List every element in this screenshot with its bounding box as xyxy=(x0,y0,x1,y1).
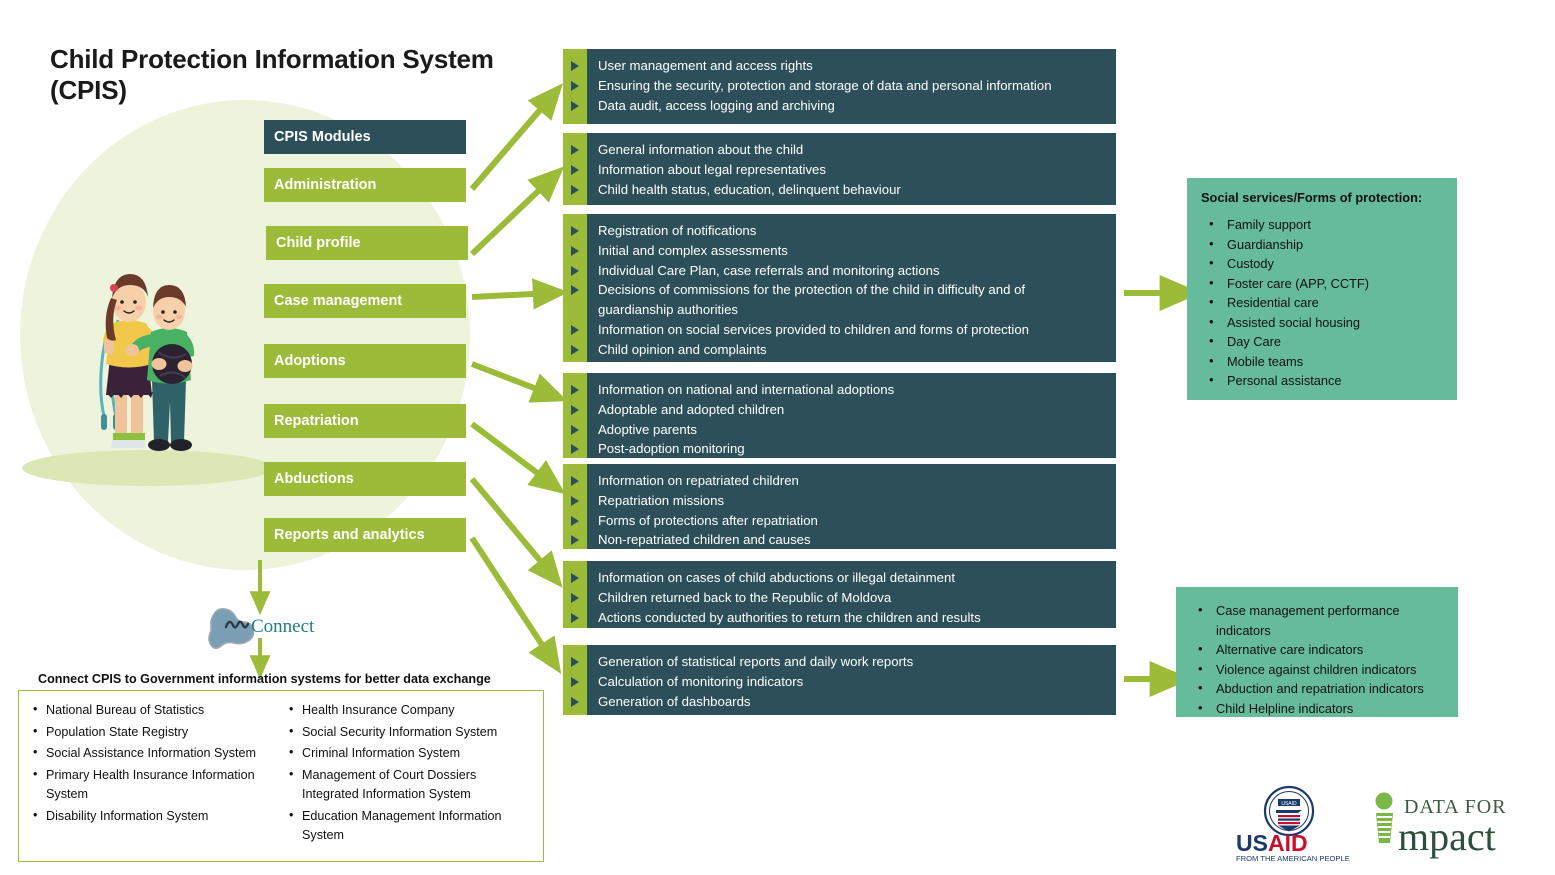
list-item: Mobile teams xyxy=(1201,352,1443,372)
bullet-arrow-icon xyxy=(571,657,579,667)
bullet-arrow-icon xyxy=(571,345,579,355)
data-for-impact-logo: DATA FOR mpact xyxy=(1368,790,1543,862)
list-item: Child opinion and complaints xyxy=(598,340,1104,360)
bullet-arrow-icon xyxy=(571,246,579,256)
bullet-arrow-icon xyxy=(571,535,579,545)
bullet-arrow-icon xyxy=(571,476,579,486)
list-item: Adoptable and adopted children xyxy=(598,400,1104,420)
panel-repatriation: Information on repatriated childrenRepat… xyxy=(563,464,1116,549)
bullet-arrow-icon xyxy=(571,496,579,506)
list-item: Post-adoption monitoring xyxy=(598,439,1104,459)
list-item: Violence against children indicators xyxy=(1190,660,1444,680)
bullet-arrow-icon xyxy=(571,385,579,395)
modules-header: CPIS Modules xyxy=(264,120,466,154)
list-item: Registration of notifications xyxy=(598,221,1104,241)
panel-administration: User management and access rightsEnsurin… xyxy=(563,49,1116,124)
panel-reports-and-analytics: Generation of statistical reports and da… xyxy=(563,645,1116,715)
panel-child-profile: General information about the childInfor… xyxy=(563,133,1116,205)
list-item: Information on repatriated children xyxy=(598,471,1104,491)
module-label: Repatriation xyxy=(274,413,359,429)
list-item: Foster care (APP, CCTF) xyxy=(1201,274,1443,294)
list-item: Alternative care indicators xyxy=(1190,640,1444,660)
modules-header-label: CPIS Modules xyxy=(274,129,371,145)
panel-items: Information on national and internationa… xyxy=(587,373,1116,458)
panel-items: Information on cases of child abductions… xyxy=(587,561,1116,628)
list-item: Family support xyxy=(1201,215,1443,235)
list-item: Residential care xyxy=(1201,293,1443,313)
list-item: Forms of protections after repatriation xyxy=(598,511,1104,531)
bullet-arrow-icon xyxy=(571,145,579,155)
list-item: Decisions of commissions for the protect… xyxy=(598,280,1104,320)
list-item: Primary Health Insurance Information Sys… xyxy=(29,766,277,805)
list-item: Initial and complex assessments xyxy=(598,241,1104,261)
list-item: Education Management Information System xyxy=(285,807,533,846)
bullet-arrow-icon xyxy=(571,285,579,295)
module-item-case-management[interactable]: Case management xyxy=(264,284,466,318)
page-title-line2: (CPIS) xyxy=(50,75,520,106)
page-title: Child Protection Information System (CPI… xyxy=(50,44,520,105)
list-item: Case management performance indicators xyxy=(1190,601,1444,640)
module-item-abductions[interactable]: Abductions xyxy=(264,462,466,496)
list-item: General information about the child xyxy=(598,140,1104,160)
module-item-repatriation[interactable]: Repatriation xyxy=(264,404,466,438)
bullet-arrow-icon xyxy=(571,593,579,603)
module-label: Administration xyxy=(274,177,376,193)
connect-left-list: National Bureau of StatisticsPopulation … xyxy=(29,701,277,826)
panel-stripe xyxy=(563,645,587,715)
bullet-arrow-icon xyxy=(571,444,579,454)
bullet-arrow-icon xyxy=(571,697,579,707)
panel-stripe xyxy=(563,561,587,628)
list-item: Child health status, education, delinque… xyxy=(598,180,1104,200)
list-item: Guardianship xyxy=(1201,235,1443,255)
panel-stripe xyxy=(563,373,587,458)
panel-stripe xyxy=(563,214,587,362)
panel-items: User management and access rightsEnsurin… xyxy=(587,49,1116,124)
panel-items: Information on repatriated childrenRepat… xyxy=(587,464,1116,549)
bullet-arrow-icon xyxy=(571,516,579,526)
bullet-arrow-icon xyxy=(571,405,579,415)
module-item-child-profile[interactable]: Child profile xyxy=(266,226,468,260)
usaid-logo: USAID USAID FROM THE AMERICAN PEOPLE xyxy=(1228,785,1350,865)
panel-items: General information about the childInfor… xyxy=(587,133,1116,205)
bullet-arrow-icon xyxy=(571,185,579,195)
list-item: Non-repatriated children and causes xyxy=(598,530,1104,550)
list-item: Assisted social housing xyxy=(1201,313,1443,333)
connect-systems-box: National Bureau of StatisticsPopulation … xyxy=(18,690,544,862)
list-item: Management of Court Dossiers Integrated … xyxy=(285,766,533,805)
list-item: Child Helpline indicators xyxy=(1190,699,1444,719)
list-item: Abduction and repatriation indicators xyxy=(1190,679,1444,699)
bullet-arrow-icon xyxy=(571,425,579,435)
bullet-arrow-icon xyxy=(571,613,579,623)
list-item: Personal assistance xyxy=(1201,371,1443,391)
panel-stripe xyxy=(563,464,587,549)
module-label: Child profile xyxy=(276,235,361,251)
dfi-bottom-text: mpact xyxy=(1398,814,1496,859)
bullet-arrow-icon xyxy=(571,101,579,111)
page-title-line1: Child Protection Information System xyxy=(50,44,520,75)
bullet-arrow-icon xyxy=(571,573,579,583)
mconnect-logo: Connect xyxy=(203,603,323,651)
list-item: Day Care xyxy=(1201,332,1443,352)
panel-abductions: Information on cases of child abductions… xyxy=(563,561,1116,628)
bullet-arrow-icon xyxy=(571,266,579,276)
list-item: Children returned back to the Republic o… xyxy=(598,588,1104,608)
list-item: Repatriation missions xyxy=(598,491,1104,511)
list-item: Population State Registry xyxy=(29,723,277,743)
module-label: Case management xyxy=(274,293,402,309)
list-item: Individual Care Plan, case referrals and… xyxy=(598,261,1104,281)
panel-stripe xyxy=(563,133,587,205)
connect-column-right: Health Insurance CompanySocial Security … xyxy=(281,701,537,855)
list-item: User management and access rights xyxy=(598,56,1104,76)
module-label: Adoptions xyxy=(274,353,346,369)
bullet-arrow-icon xyxy=(571,81,579,91)
indicators-list: Case management performance indicatorsAl… xyxy=(1190,601,1444,718)
list-item: Criminal Information System xyxy=(285,744,533,764)
indicators-box: Case management performance indicatorsAl… xyxy=(1176,587,1458,717)
panel-adoptions: Information on national and internationa… xyxy=(563,373,1116,458)
panel-stripe xyxy=(563,49,587,124)
list-item: Health Insurance Company xyxy=(285,701,533,721)
list-item: Adoptive parents xyxy=(598,420,1104,440)
bullet-arrow-icon xyxy=(571,165,579,175)
bullet-arrow-icon xyxy=(571,61,579,71)
list-item: National Bureau of Statistics xyxy=(29,701,277,721)
connect-column-left: National Bureau of StatisticsPopulation … xyxy=(25,701,281,855)
children-illustration xyxy=(80,240,210,480)
list-item: Generation of dashboards xyxy=(598,692,1104,712)
list-item: Calculation of monitoring indicators xyxy=(598,672,1104,692)
list-item: Social Security Information System xyxy=(285,723,533,743)
list-item: Custody xyxy=(1201,254,1443,274)
module-label: Abductions xyxy=(274,471,354,487)
diagram-canvas: Child Protection Information System (CPI… xyxy=(0,0,1555,875)
social-services-list: Family supportGuardianshipCustodyFoster … xyxy=(1201,215,1443,391)
list-item: Information about legal representatives xyxy=(598,160,1104,180)
module-item-adoptions[interactable]: Adoptions xyxy=(264,344,466,378)
connect-caption: Connect CPIS to Government information s… xyxy=(38,672,538,686)
list-item: Social Assistance Information System xyxy=(29,744,277,764)
usaid-seal-text: USAID xyxy=(1281,801,1297,807)
connect-right-list: Health Insurance CompanySocial Security … xyxy=(285,701,533,846)
list-item: Disability Information System xyxy=(29,807,277,827)
social-services-box: Social services/Forms of protection: Fam… xyxy=(1187,178,1457,400)
panel-items: Registration of notificationsInitial and… xyxy=(587,214,1116,362)
usaid-wordmark: USAID xyxy=(1236,830,1308,856)
bullet-arrow-icon xyxy=(571,325,579,335)
module-label: Reports and analytics xyxy=(274,527,425,543)
panel-case-management: Registration of notificationsInitial and… xyxy=(563,214,1116,362)
list-item: Actions conducted by authorities to retu… xyxy=(598,608,1104,628)
social-services-title: Social services/Forms of protection: xyxy=(1201,190,1443,205)
list-item: Generation of statistical reports and da… xyxy=(598,652,1104,672)
module-item-administration[interactable]: Administration xyxy=(264,168,466,202)
list-item: Information on social services provided … xyxy=(598,320,1104,340)
mconnect-logo-text: Connect xyxy=(251,616,315,637)
bullet-arrow-icon xyxy=(571,226,579,236)
module-item-reports-and-analytics[interactable]: Reports and analytics xyxy=(264,518,466,552)
bullet-arrow-icon xyxy=(571,677,579,687)
list-item: Information on national and internationa… xyxy=(598,380,1104,400)
list-item: Ensuring the security, protection and st… xyxy=(598,76,1104,96)
list-item: Data audit, access logging and archiving xyxy=(598,96,1104,116)
list-item: Information on cases of child abductions… xyxy=(598,568,1104,588)
usaid-tagline: FROM THE AMERICAN PEOPLE xyxy=(1236,854,1350,863)
panel-items: Generation of statistical reports and da… xyxy=(587,645,1116,715)
